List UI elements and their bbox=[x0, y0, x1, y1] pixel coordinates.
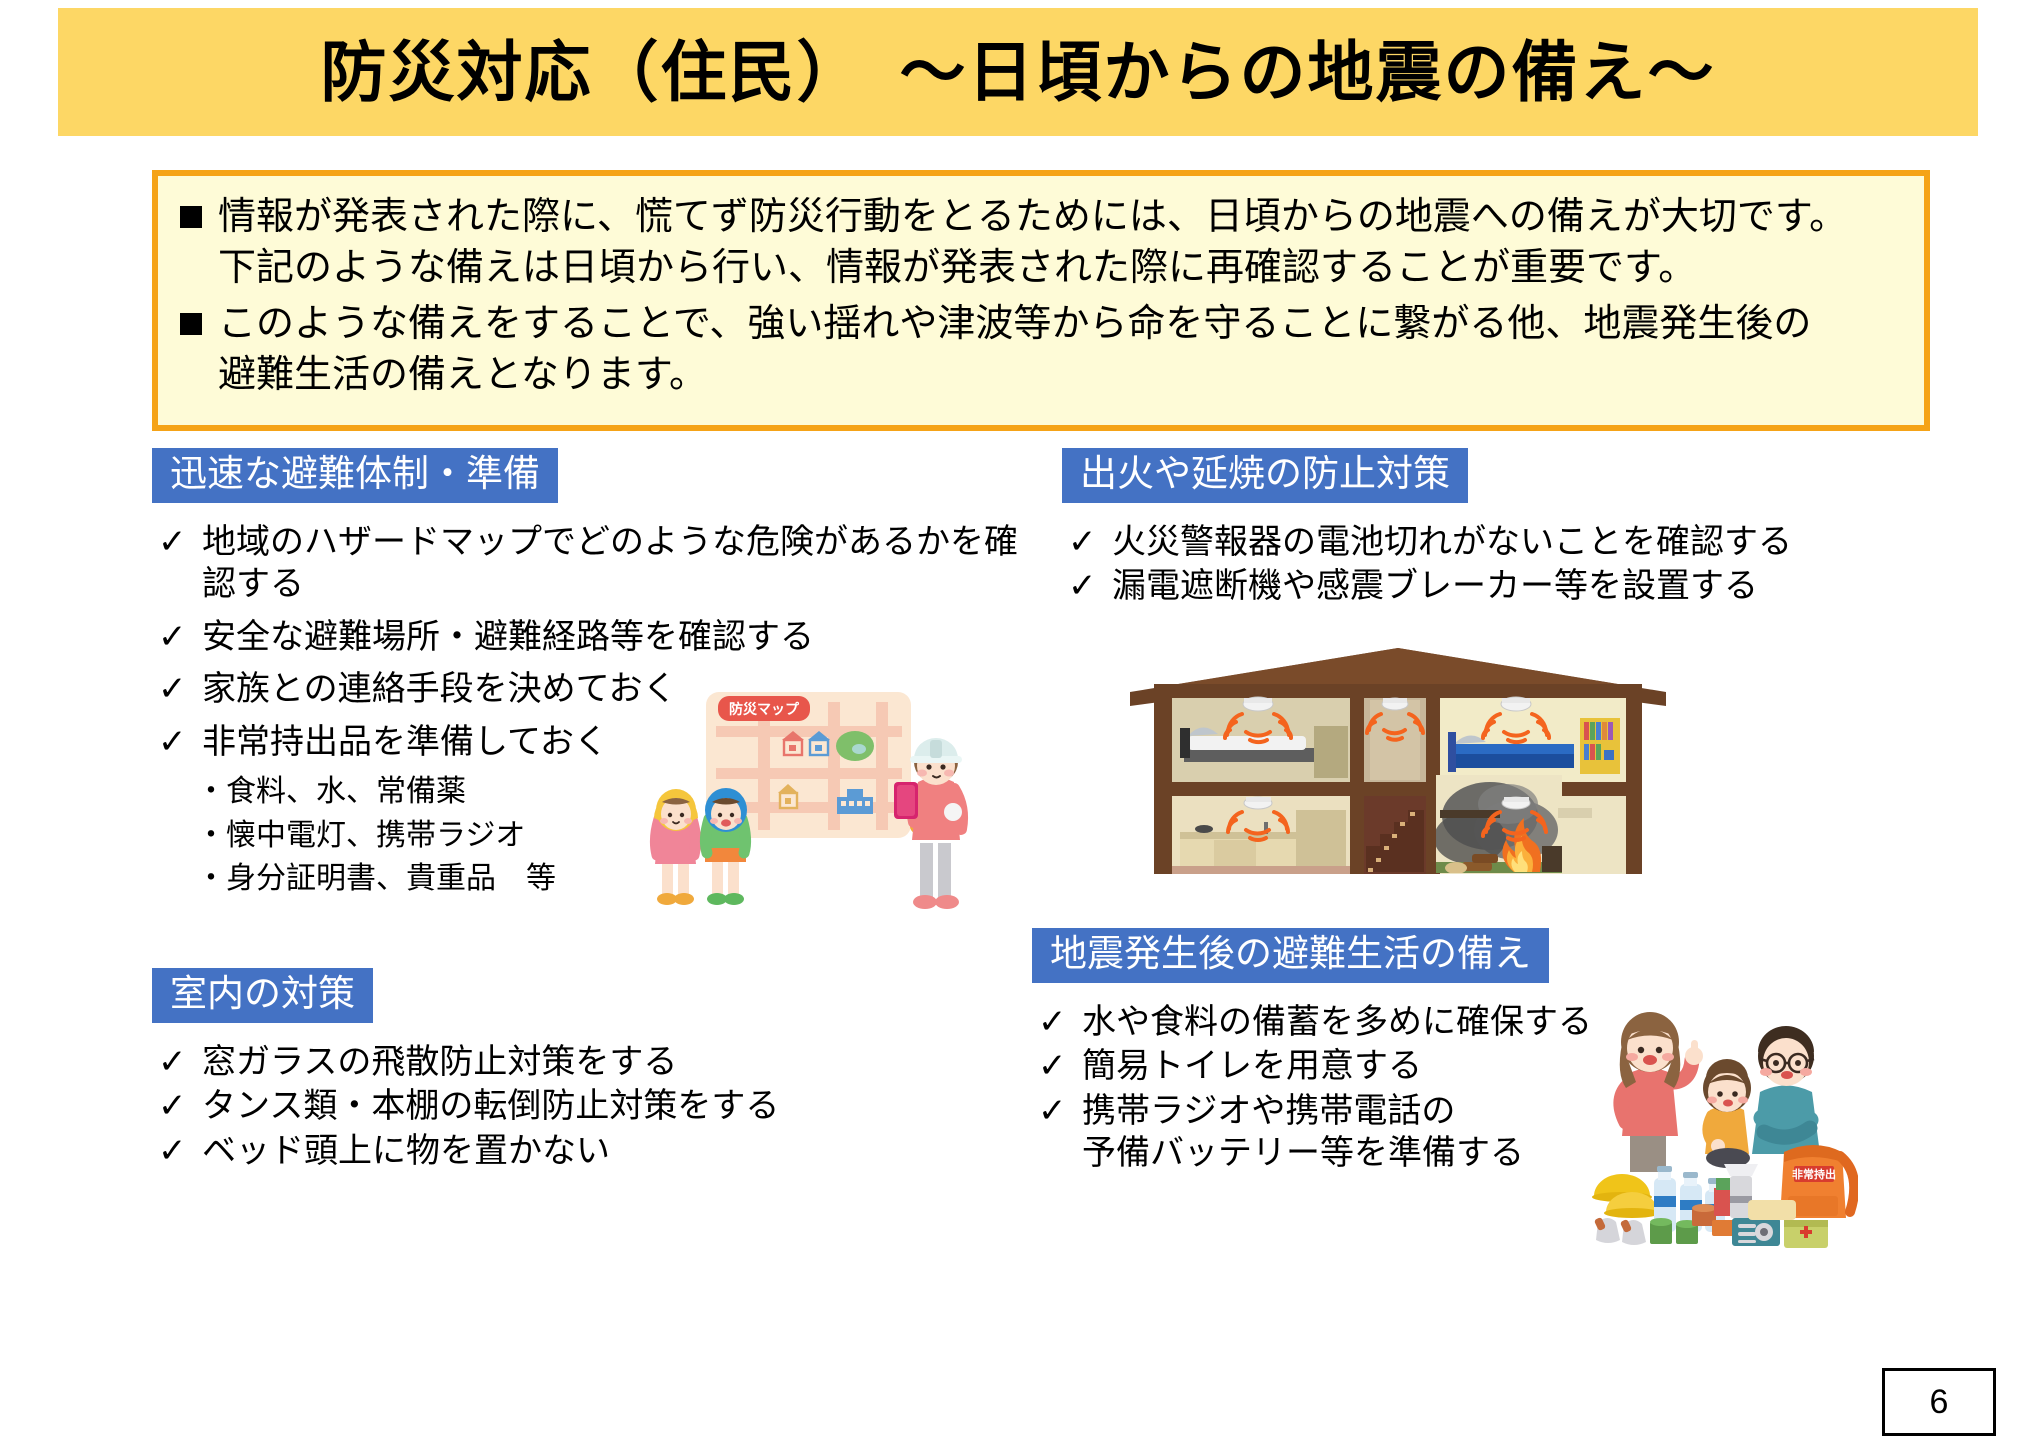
section-list-indoor-measures: ✓ 窓ガラスの飛散防止対策をする ✓ タンス類・本棚の転倒防止対策をする ✓ ベ… bbox=[152, 1041, 952, 1173]
first-aid-box-icon bbox=[1784, 1220, 1828, 1248]
slide-title-bar: 防災対応（住民） ～日頃からの地震の備え～ bbox=[58, 8, 1978, 136]
helmet-icon bbox=[1592, 1174, 1660, 1218]
lead-info-box: 情報が発表された際に、慌てず防災行動をとるためには、日頃からの地震への備えが大切… bbox=[152, 170, 1930, 431]
sub-list-item-label: ・食料、水、常備薬 bbox=[196, 773, 466, 811]
check-icon: ✓ bbox=[152, 616, 202, 659]
list-item-label: 漏電遮断機や感震ブレーカー等を設置する bbox=[1112, 565, 1758, 608]
lead-line: 避難生活の備えとなります。 bbox=[218, 350, 1811, 401]
list-item-label: タンス類・本棚の転倒防止対策をする bbox=[202, 1085, 779, 1128]
list-item-label: 窓ガラスの飛散防止対策をする bbox=[202, 1041, 677, 1084]
list-item-label: 家族との連絡手段を決めておく bbox=[202, 668, 677, 711]
list-item-label: 非常持出品を準備しておく bbox=[202, 721, 608, 764]
child-figure-yellow bbox=[654, 789, 698, 905]
lead-item-text: 情報が発表された際に、慌てず防災行動をとるためには、日頃からの地震への備えが大切… bbox=[218, 192, 1847, 295]
section-fire-prevention: 出火や延焼の防止対策 ✓ 火災警報器の電池切れがないことを確認する ✓ 漏電遮断… bbox=[1062, 448, 1942, 610]
smoke-detector-icon bbox=[1502, 797, 1530, 809]
check-icon: ✓ bbox=[1032, 1001, 1082, 1044]
smoke-detector-icon bbox=[1244, 797, 1272, 809]
child-figure bbox=[1703, 1059, 1751, 1168]
list-item: ✓ 安全な避難場所・避難経路等を確認する bbox=[152, 616, 1022, 659]
section-header-evacuation: 迅速な避難体制・準備 bbox=[152, 448, 558, 503]
emergency-bag-label: 非常持出 bbox=[1792, 1167, 1836, 1181]
page-number-box: 6 bbox=[1882, 1368, 1996, 1436]
list-item-label: 火災警報器の電池切れがないことを確認する bbox=[1112, 521, 1792, 564]
hazard-map-illustration: 防災マップ bbox=[648, 688, 988, 918]
list-item: ✓ 火災警報器の電池切れがないことを確認する bbox=[1062, 521, 1942, 564]
square-bullet-icon bbox=[180, 313, 202, 335]
check-icon: ✓ bbox=[152, 668, 202, 711]
smoke-detector-icon bbox=[1243, 697, 1273, 711]
supply-box-red bbox=[1714, 1188, 1730, 1216]
lead-item: このような備えをすることで、強い揺れや津波等から命を守ることに繋がる他、地震発生… bbox=[180, 299, 1902, 402]
radio-icon bbox=[1732, 1218, 1780, 1246]
check-icon: ✓ bbox=[152, 1085, 202, 1128]
check-icon: ✓ bbox=[152, 721, 202, 764]
section-header-fire-prevention: 出火や延焼の防止対策 bbox=[1062, 448, 1468, 503]
supply-box-green bbox=[1716, 1178, 1730, 1190]
list-item-label: ベッド頭上に物を置かない bbox=[202, 1130, 610, 1173]
lead-item: 情報が発表された際に、慌てず防災行動をとるためには、日頃からの地震への備えが大切… bbox=[180, 192, 1902, 295]
lead-line: 情報が発表された際に、慌てず防災行動をとるためには、日頃からの地震への備えが大切… bbox=[218, 192, 1847, 243]
list-item-label: 携帯ラジオや携帯電話の 予備バッテリー等を準備する bbox=[1082, 1090, 1524, 1175]
section-header-indoor-measures: 室内の対策 bbox=[152, 968, 373, 1023]
check-icon: ✓ bbox=[1062, 521, 1112, 564]
father-figure bbox=[1752, 1026, 1820, 1154]
smoke-detector-icon bbox=[1501, 697, 1531, 711]
check-icon: ✓ bbox=[1032, 1045, 1082, 1088]
hazard-map-board-label: 防災マップ bbox=[729, 701, 800, 717]
list-item: ✓ 地域のハザードマップでどのような危険があるかを確認する bbox=[152, 521, 1022, 606]
list-item-label: 安全な避難場所・避難経路等を確認する bbox=[202, 616, 814, 659]
section-header-after-quake: 地震発生後の避難生活の備え bbox=[1032, 928, 1549, 983]
sub-list-item-label: ・身分証明書、貴重品 等 bbox=[196, 860, 556, 898]
list-item-label: 水や食料の備蓄を多めに確保する bbox=[1082, 1001, 1592, 1044]
list-item: ✓ 窓ガラスの飛散防止対策をする bbox=[152, 1041, 952, 1084]
sub-list-item-label: ・懐中電灯、携帯ラジオ bbox=[196, 817, 525, 855]
check-icon: ✓ bbox=[1032, 1090, 1082, 1133]
list-item: ✓ タンス類・本棚の転倒防止対策をする bbox=[152, 1085, 952, 1128]
list-item: ✓ ベッド頭上に物を置かない bbox=[152, 1130, 952, 1173]
blanket-icon bbox=[1748, 1200, 1796, 1220]
child-figure-blue bbox=[705, 788, 747, 905]
check-icon: ✓ bbox=[152, 1041, 202, 1084]
lead-line: このような備えをすることで、強い揺れや津波等から命を守ることに繋がる他、地震発生… bbox=[218, 299, 1811, 350]
check-icon: ✓ bbox=[1062, 565, 1112, 608]
section-indoor-measures: 室内の対策 ✓ 窓ガラスの飛散防止対策をする ✓ タンス類・本棚の転倒防止対策を… bbox=[152, 968, 952, 1174]
list-item-label: 簡易トイレを用意する bbox=[1082, 1045, 1422, 1088]
check-icon: ✓ bbox=[152, 1130, 202, 1173]
gloves-icon bbox=[1594, 1217, 1646, 1245]
smoke-detector-icon bbox=[1382, 698, 1408, 710]
list-item-label: 地域のハザードマップでどのような危険があるかを確認する bbox=[202, 521, 1022, 606]
page-title: 防災対応（住民） ～日頃からの地震の備え～ bbox=[321, 39, 1716, 105]
house-cross-section-illustration bbox=[1118, 640, 1678, 890]
lead-line: 下記のような備えは日頃から行い、情報が発表された際に再確認することが重要です。 bbox=[218, 243, 1847, 294]
page-number: 6 bbox=[1930, 1383, 1949, 1422]
check-icon: ✓ bbox=[152, 521, 202, 564]
section-list-fire-prevention: ✓ 火災警報器の電池切れがないことを確認する ✓ 漏電遮断機や感震ブレーカー等を… bbox=[1062, 521, 1942, 608]
mother-figure bbox=[1620, 1012, 1703, 1172]
lead-item-text: このような備えをすることで、強い揺れや津波等から命を守ることに繋がる他、地震発生… bbox=[218, 299, 1811, 402]
square-bullet-icon bbox=[180, 206, 202, 228]
list-item: ✓ 漏電遮断機や感震ブレーカー等を設置する bbox=[1062, 565, 1942, 608]
family-emergency-supplies-illustration: 非常持出 bbox=[1588, 1000, 1858, 1250]
